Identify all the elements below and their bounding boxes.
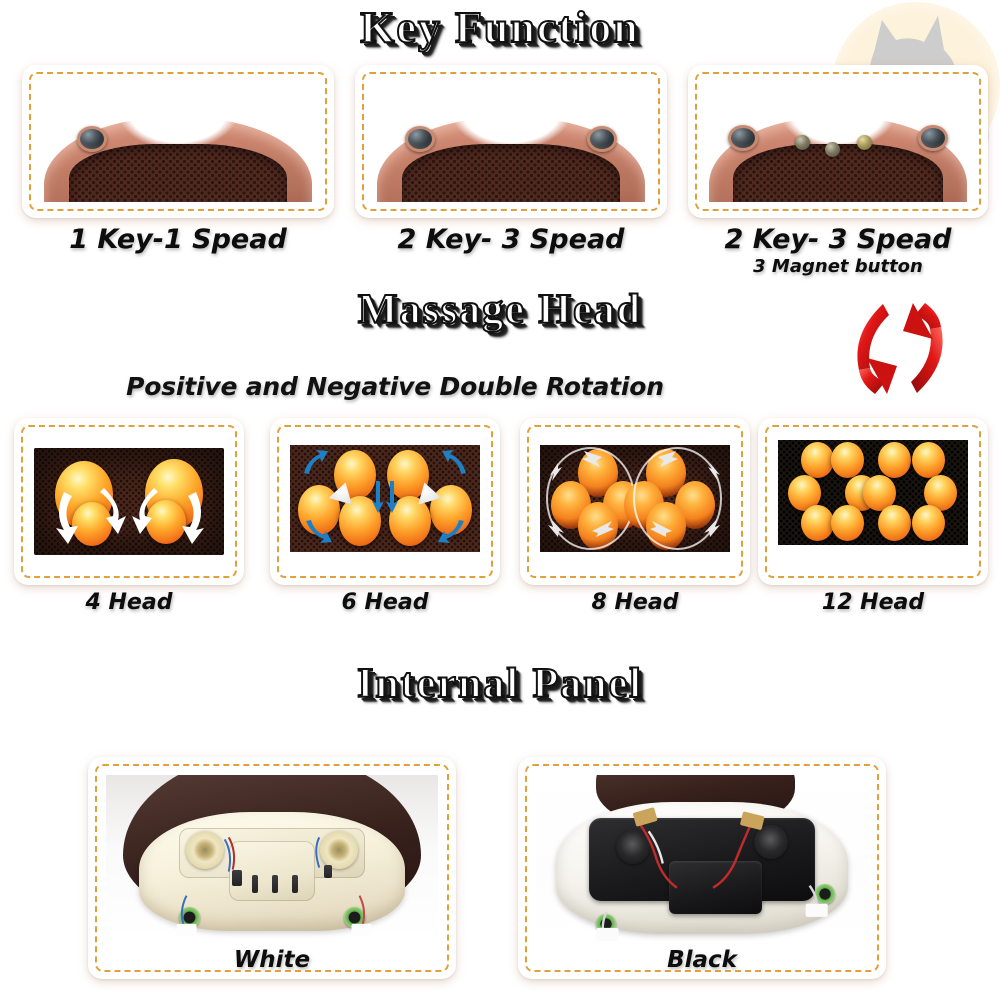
massage-pillow-1-key-icon <box>38 81 318 202</box>
massage-head-card[interactable] <box>758 418 988 585</box>
internal-panel-white-photo-icon <box>106 775 438 941</box>
key-function-card[interactable] <box>355 65 667 218</box>
massage-head-card-caption: 8 Head <box>520 590 750 615</box>
massage-head-card[interactable] <box>270 418 500 585</box>
massage-head-card-caption: 4 Head <box>14 590 244 615</box>
massage-pillow-2-key-3-magnet-icon <box>704 81 972 202</box>
massage-head-card[interactable] <box>520 418 750 585</box>
section-title-key-function: Key Function <box>0 2 1000 53</box>
key-function-card[interactable] <box>22 65 334 218</box>
internal-panel-card-caption: White <box>88 947 456 973</box>
key-function-card[interactable] <box>688 65 988 218</box>
key-function-card-caption: 2 Key- 3 Spead <box>688 224 988 255</box>
massage-head-12-icon <box>778 440 968 545</box>
section-title-internal-panel: Internal Panel <box>0 660 1000 708</box>
massage-head-8-icon <box>540 445 730 552</box>
key-function-card-caption: 2 Key- 3 Spead <box>355 224 667 255</box>
massage-pillow-2-key-icon <box>371 81 651 202</box>
massage-head-6-icon <box>290 445 480 552</box>
massage-head-card[interactable] <box>14 418 244 585</box>
internal-panel-card-caption: Black <box>518 947 886 973</box>
infographic-page: Key Function 1 Key-1 Spead 2 Key- 3 Spea… <box>0 0 1000 1000</box>
internal-panel-black-photo-icon <box>536 775 868 941</box>
internal-panel-card[interactable]: White <box>88 757 456 979</box>
internal-panel-card[interactable]: Black <box>518 757 886 979</box>
massage-head-4-icon <box>34 448 224 555</box>
key-function-card-sub-caption: 3 Magnet button <box>688 256 988 277</box>
key-function-card-caption: 1 Key-1 Spead <box>22 224 334 255</box>
massage-head-card-caption: 6 Head <box>270 590 500 615</box>
massage-head-card-caption: 12 Head <box>758 590 988 615</box>
double-rotation-arrows-icon <box>845 296 955 401</box>
massage-head-subtitle: Positive and Negative Double Rotation <box>0 372 790 401</box>
